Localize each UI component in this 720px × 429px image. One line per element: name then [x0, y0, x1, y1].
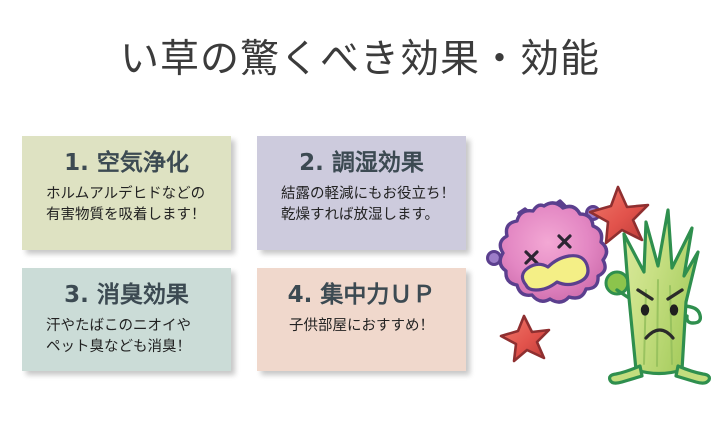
card-row-top: 1. 空気浄化 ホルムアルデヒドなどの 有害物質を吸着します！ 2. 調湿効果 … — [22, 136, 466, 250]
card-body: 汗やたばこのニオイや ペット臭なども消臭！ — [32, 316, 221, 358]
card-body: ホルムアルデヒドなどの 有害物質を吸着します！ — [32, 184, 221, 226]
benefit-card-concentration-up[interactable]: 4. 集中力ＵＰ 子供部屋におすすめ！ — [257, 268, 466, 371]
card-body: 結露の軽減にもお役立ち！ 乾燥すれば放湿します。 — [267, 184, 456, 226]
card-row-bottom: 3. 消臭効果 汗やたばこのニオイや ペット臭なども消臭！ 4. 集中力ＵＰ 子… — [22, 268, 466, 371]
card-heading: 1. 空気浄化 — [32, 148, 221, 178]
benefit-card-deodorizing[interactable]: 3. 消臭効果 汗やたばこのニオイや ペット臭なども消臭！ — [22, 268, 231, 371]
card-heading: 4. 集中力ＵＰ — [267, 280, 456, 310]
igusa-vs-germ-illustration — [486, 180, 714, 385]
card-body-line: 有害物質を吸着します！ — [46, 205, 221, 226]
igusa-right-eye-icon — [670, 304, 678, 315]
germ-body — [500, 203, 606, 302]
igusa-character — [606, 210, 709, 383]
card-body-line: 結露の軽減にもお役立ち！ — [281, 184, 456, 205]
card-body-line: ペット臭なども消臭！ — [46, 337, 221, 358]
card-heading: 3. 消臭効果 — [32, 280, 221, 310]
card-body: 子供部屋におすすめ！ — [267, 316, 456, 337]
germ-character — [488, 201, 607, 302]
card-heading: 2. 調湿効果 — [267, 148, 456, 178]
benefit-card-air-purification[interactable]: 1. 空気浄化 ホルムアルデヒドなどの 有害物質を吸着します！ — [22, 136, 231, 250]
igusa-left-eye-icon — [641, 304, 649, 315]
page-title: い草の驚くべき効果・効能 — [0, 36, 720, 84]
card-body-line: 子供部屋におすすめ！ — [267, 316, 456, 337]
star-lower-icon — [501, 316, 549, 361]
card-body-line: 乾燥すれば放湿します。 — [281, 205, 456, 226]
card-body-line: ホルムアルデヒドなどの — [46, 184, 221, 205]
benefit-card-grid: 1. 空気浄化 ホルムアルデヒドなどの 有害物質を吸着します！ 2. 調湿効果 … — [22, 136, 466, 371]
card-body-line: 汗やたばこのニオイや — [46, 316, 221, 337]
benefit-card-humidity-control[interactable]: 2. 調湿効果 結露の軽減にもお役立ち！ 乾燥すれば放湿します。 — [257, 136, 466, 250]
